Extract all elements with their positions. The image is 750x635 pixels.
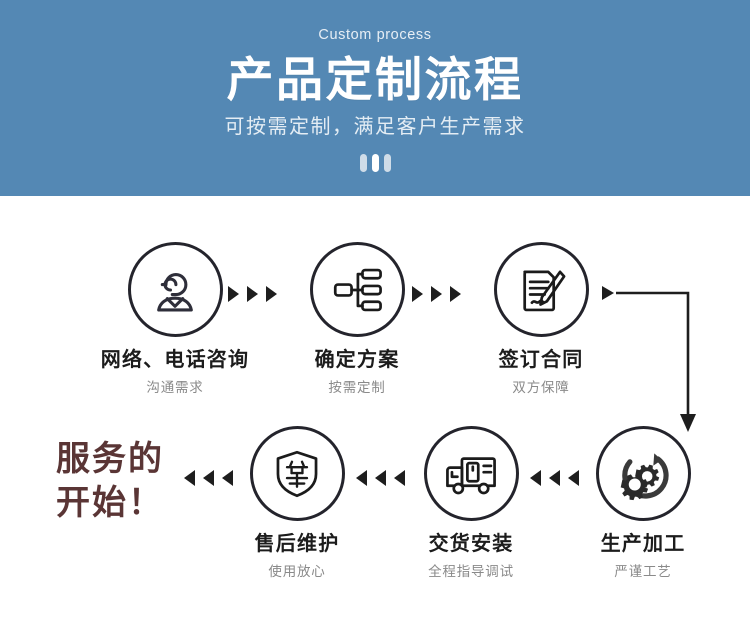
header-subtitle: 可按需定制，满足客户生产需求 bbox=[225, 117, 526, 137]
arrows-right-2 bbox=[412, 286, 461, 302]
step-after-sales[interactable]: 售后维护 使用放心 bbox=[212, 426, 382, 579]
step-plan[interactable]: 确定方案 按需定制 bbox=[272, 242, 442, 395]
triangle-left-icon bbox=[356, 470, 367, 486]
banner-header: Custom process 产品定制流程 可按需定制，满足客户生产需求 bbox=[0, 0, 750, 196]
gears-production-icon bbox=[596, 426, 691, 521]
step-subtitle: 按需定制 bbox=[272, 381, 442, 395]
header-eyebrow: Custom process bbox=[318, 28, 431, 43]
three-bars-decoration-icon bbox=[360, 154, 391, 172]
delivery-truck-icon bbox=[424, 426, 519, 521]
arrows-right-1 bbox=[228, 286, 277, 302]
step-production[interactable]: 生产加工 严谨工艺 bbox=[558, 426, 728, 579]
process-flow: 网络、电话咨询 沟通需求 确定方案 按需定制 bbox=[0, 196, 750, 635]
triangle-left-icon bbox=[375, 470, 386, 486]
step-title: 确定方案 bbox=[272, 350, 442, 370]
step-subtitle: 全程指导调试 bbox=[386, 565, 556, 579]
triangle-right-icon bbox=[412, 286, 423, 302]
step-subtitle: 使用放心 bbox=[212, 565, 382, 579]
slogan-line-2: 开始！ bbox=[56, 482, 164, 526]
shield-after-sales-icon bbox=[250, 426, 345, 521]
connector-elbow-arrow bbox=[602, 282, 708, 434]
slogan-block: 服务的 开始！ bbox=[56, 438, 164, 525]
flowchart-plan-icon bbox=[310, 242, 405, 337]
step-title: 签订合同 bbox=[456, 350, 626, 370]
triangle-right-icon bbox=[431, 286, 442, 302]
step-title: 网络、电话咨询 bbox=[90, 350, 260, 370]
step-delivery[interactable]: 交货安装 全程指导调试 bbox=[386, 426, 556, 579]
triangle-right-icon bbox=[228, 286, 239, 302]
step-title: 售后维护 bbox=[212, 534, 382, 554]
step-subtitle: 双方保障 bbox=[456, 381, 626, 395]
step-title: 交货安装 bbox=[386, 534, 556, 554]
sign-contract-icon bbox=[494, 242, 589, 337]
slogan-line-1: 服务的 bbox=[56, 438, 164, 482]
triangle-right-icon bbox=[247, 286, 258, 302]
step-consult[interactable]: 网络、电话咨询 沟通需求 bbox=[90, 242, 260, 395]
step-title: 生产加工 bbox=[558, 534, 728, 554]
customer-consult-icon bbox=[128, 242, 223, 337]
page-title: 产品定制流程 bbox=[227, 55, 524, 105]
step-contract[interactable]: 签订合同 双方保障 bbox=[456, 242, 626, 395]
triangle-left-icon bbox=[184, 470, 195, 486]
triangle-left-icon bbox=[530, 470, 541, 486]
step-subtitle: 沟通需求 bbox=[90, 381, 260, 395]
custom-process-banner: Custom process 产品定制流程 可按需定制，满足客户生产需求 网络、… bbox=[0, 0, 750, 635]
step-subtitle: 严谨工艺 bbox=[558, 565, 728, 579]
